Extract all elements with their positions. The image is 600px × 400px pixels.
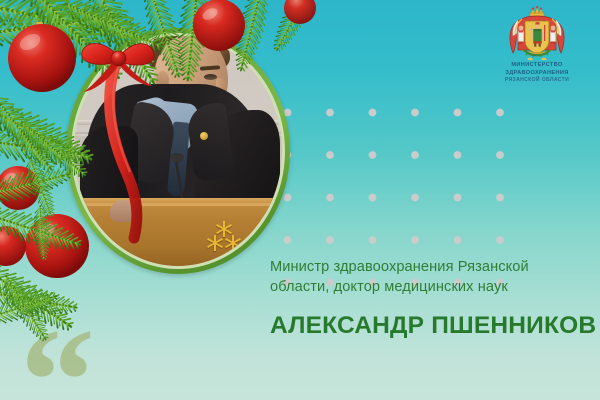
portrait-photo: ⁂ <box>74 36 282 266</box>
portrait-medallion: ⁂ <box>66 28 290 274</box>
person-position-line-2: области, доктор медицинских наук <box>270 278 592 298</box>
ministry-logo-line-1: МИНИСТЕРСТВО <box>482 62 592 70</box>
text-block: Министр здравоохранения Рязанской област… <box>270 258 592 340</box>
podium <box>74 203 282 266</box>
bauble <box>284 0 316 24</box>
person-name: АЛЕКСАНДР ПШЕННИКОВ <box>270 312 592 340</box>
quotation-mark-icon: “ <box>20 306 95 400</box>
ministry-logo-text: МИНИСТЕРСТВО ЗДРАВООХРАНЕНИЯ РЯЗАНСКОЙ О… <box>482 62 592 85</box>
person-eye <box>204 74 217 80</box>
greeting-card: “ <box>0 0 600 400</box>
ministry-logo: МИНИСТЕРСТВО ЗДРАВООХРАНЕНИЯ РЯЗАНСКОЙ О… <box>482 6 592 85</box>
person-position-line-1: Министр здравоохранения Рязанской <box>270 258 592 278</box>
person-hand <box>110 200 140 222</box>
russian-coat-of-arms-icon: ⁂ <box>206 218 240 258</box>
coat-of-arms-ryazan-oblast-icon <box>500 6 574 60</box>
bauble <box>0 166 40 210</box>
person-position: Министр здравоохранения Рязанской област… <box>270 258 592 297</box>
bauble <box>0 226 26 266</box>
ministry-logo-line-3: РЯЗАНСКОЙ ОБЛАСТИ <box>482 77 592 85</box>
person-lapel-pin <box>200 132 208 140</box>
microphone-head-left <box>170 153 184 162</box>
